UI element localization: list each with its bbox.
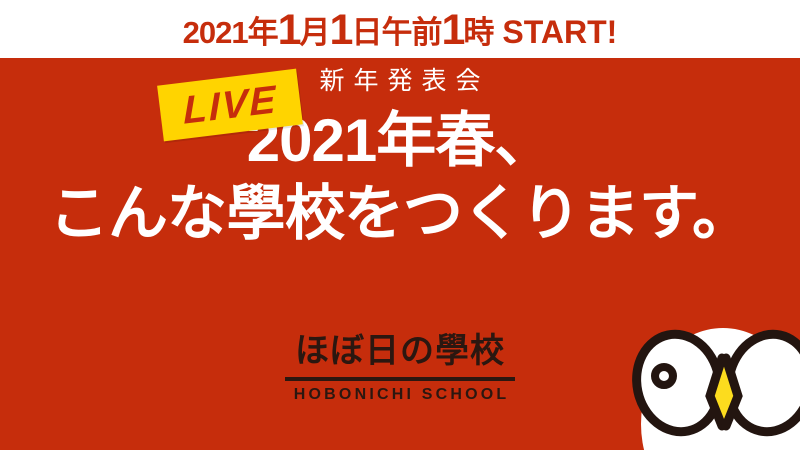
banner-day-number: 1 — [330, 9, 352, 52]
banner-hour-unit: 時 — [463, 17, 493, 48]
banner-year: 2021年 — [183, 17, 278, 48]
event-subtitle: 新年発表会 — [0, 64, 800, 99]
headline-line-1: 2021年春、 — [0, 106, 800, 177]
top-banner: 2021年 1 月 1 日 午前 1 時 START! — [0, 0, 800, 58]
brand-logo-japanese: ほぼ日の學校 — [285, 334, 515, 370]
poster-canvas: 2021年 1 月 1 日 午前 1 時 START! LIVE 新年発表会 2… — [0, 0, 800, 450]
brand-logo: ほぼ日の學校 HOBONICHI SCHOOL — [285, 334, 515, 403]
brand-logo-divider — [285, 377, 515, 381]
main-stage: LIVE 新年発表会 2021年春、 こんな學校をつくります。 ほぼ日の學校 H… — [0, 58, 800, 450]
headline-line-2: こんな學校をつくります。 — [0, 179, 800, 250]
banner-month-number: 1 — [278, 9, 300, 52]
live-badge-label: LIVE — [183, 80, 278, 131]
banner-ampm: 午前 — [381, 17, 441, 48]
banner-month-unit: 月 — [300, 17, 330, 48]
brand-logo-english: HOBONICHI SCHOOL — [285, 387, 515, 403]
headline: 2021年春、 こんな學校をつくります。 — [0, 106, 800, 250]
banner-hour-number: 1 — [441, 9, 463, 52]
banner-start-label: START! — [502, 16, 617, 48]
banner-datetime-text: 2021年 1 月 1 日 午前 1 時 START! — [183, 8, 618, 51]
banner-day-unit: 日 — [351, 17, 381, 48]
owl-mascot-icon — [618, 316, 800, 450]
